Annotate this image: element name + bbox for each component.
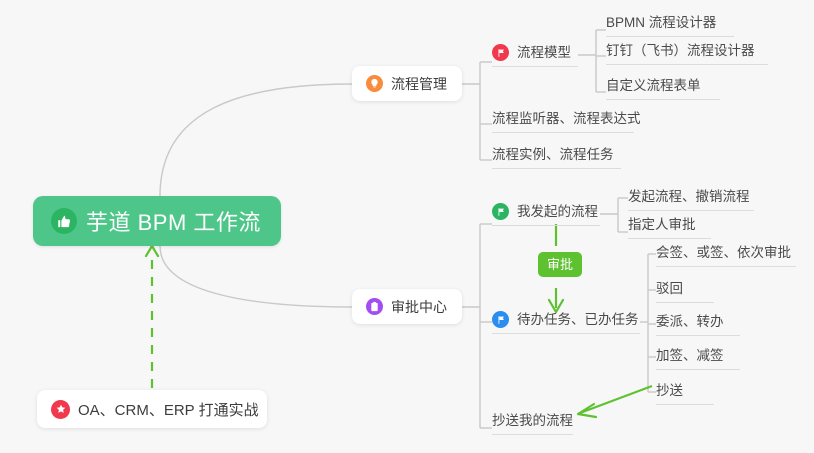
flag-icon [492,311,509,328]
leaf-flow-listener[interactable]: 流程监听器、流程表达式 [492,110,634,133]
clipboard-icon [366,298,383,315]
leaf-flow-instance[interactable]: 流程实例、流程任务 [492,146,621,169]
leaf-bpmn-designer[interactable]: BPMN 流程设计器 [606,14,734,37]
leaf-countersign[interactable]: 会签、或签、依次审批 [656,244,796,267]
leaf-flow-model[interactable]: 流程模型 [492,44,578,67]
root-label: 芋道 BPM 工作流 [86,205,261,237]
flag-icon [492,203,509,220]
leaf-cc-to-me[interactable]: 抄送我的流程 [492,412,573,435]
leaf-cc[interactable]: 抄送 [656,382,714,405]
branch-node-approval-center[interactable]: 审批中心 [352,289,462,324]
leaf-label-my-initiated: 我发起的流程 [517,203,598,220]
leaf-todo-done-tasks[interactable]: 待办任务、已办任务 [492,311,640,334]
arrow-oa-to-root [146,246,158,388]
leaf-label-flow-model: 流程模型 [517,44,571,61]
floating-node-oa-crm-erp[interactable]: OA、CRM、ERP 打通实战 [37,390,267,428]
lightbulb-icon [366,75,383,92]
leaf-start-cancel-process[interactable]: 发起流程、撤销流程 [628,188,754,211]
connector-root-to-flow-management [160,84,352,196]
leaf-reject[interactable]: 驳回 [656,280,714,303]
leaf-my-initiated[interactable]: 我发起的流程 [492,203,600,226]
connector-root-to-approval-center [160,246,352,307]
leaf-dingtalk-designer[interactable]: 钉钉（飞书）流程设计器 [606,42,768,65]
leaf-custom-form[interactable]: 自定义流程表单 [606,77,720,100]
leaf-add-remove-sign[interactable]: 加签、减签 [656,347,740,370]
star-icon [51,400,70,419]
callout-approval: 审批 [538,252,582,277]
leaf-delegate-transfer[interactable]: 委派、转办 [656,313,740,336]
leaf-assignee-approval[interactable]: 指定人审批 [628,216,711,239]
thumbs-up-icon [51,208,77,234]
root-node[interactable]: 芋道 BPM 工作流 [33,196,281,246]
floating-node-label: OA、CRM、ERP 打通实战 [78,399,259,420]
branch-label-flow-management: 流程管理 [391,74,447,94]
mindmap-canvas: 芋道 BPM 工作流 流程管理 流程模型 流程监听器、流程表达式 流程实例、流程… [0,0,814,453]
leaf-label-todo-done-tasks: 待办任务、已办任务 [517,311,639,328]
flag-icon [492,44,509,61]
branch-label-approval-center: 审批中心 [391,297,447,317]
branch-node-flow-management[interactable]: 流程管理 [352,66,462,101]
arrow-cc-to-cc-mine [578,386,652,417]
